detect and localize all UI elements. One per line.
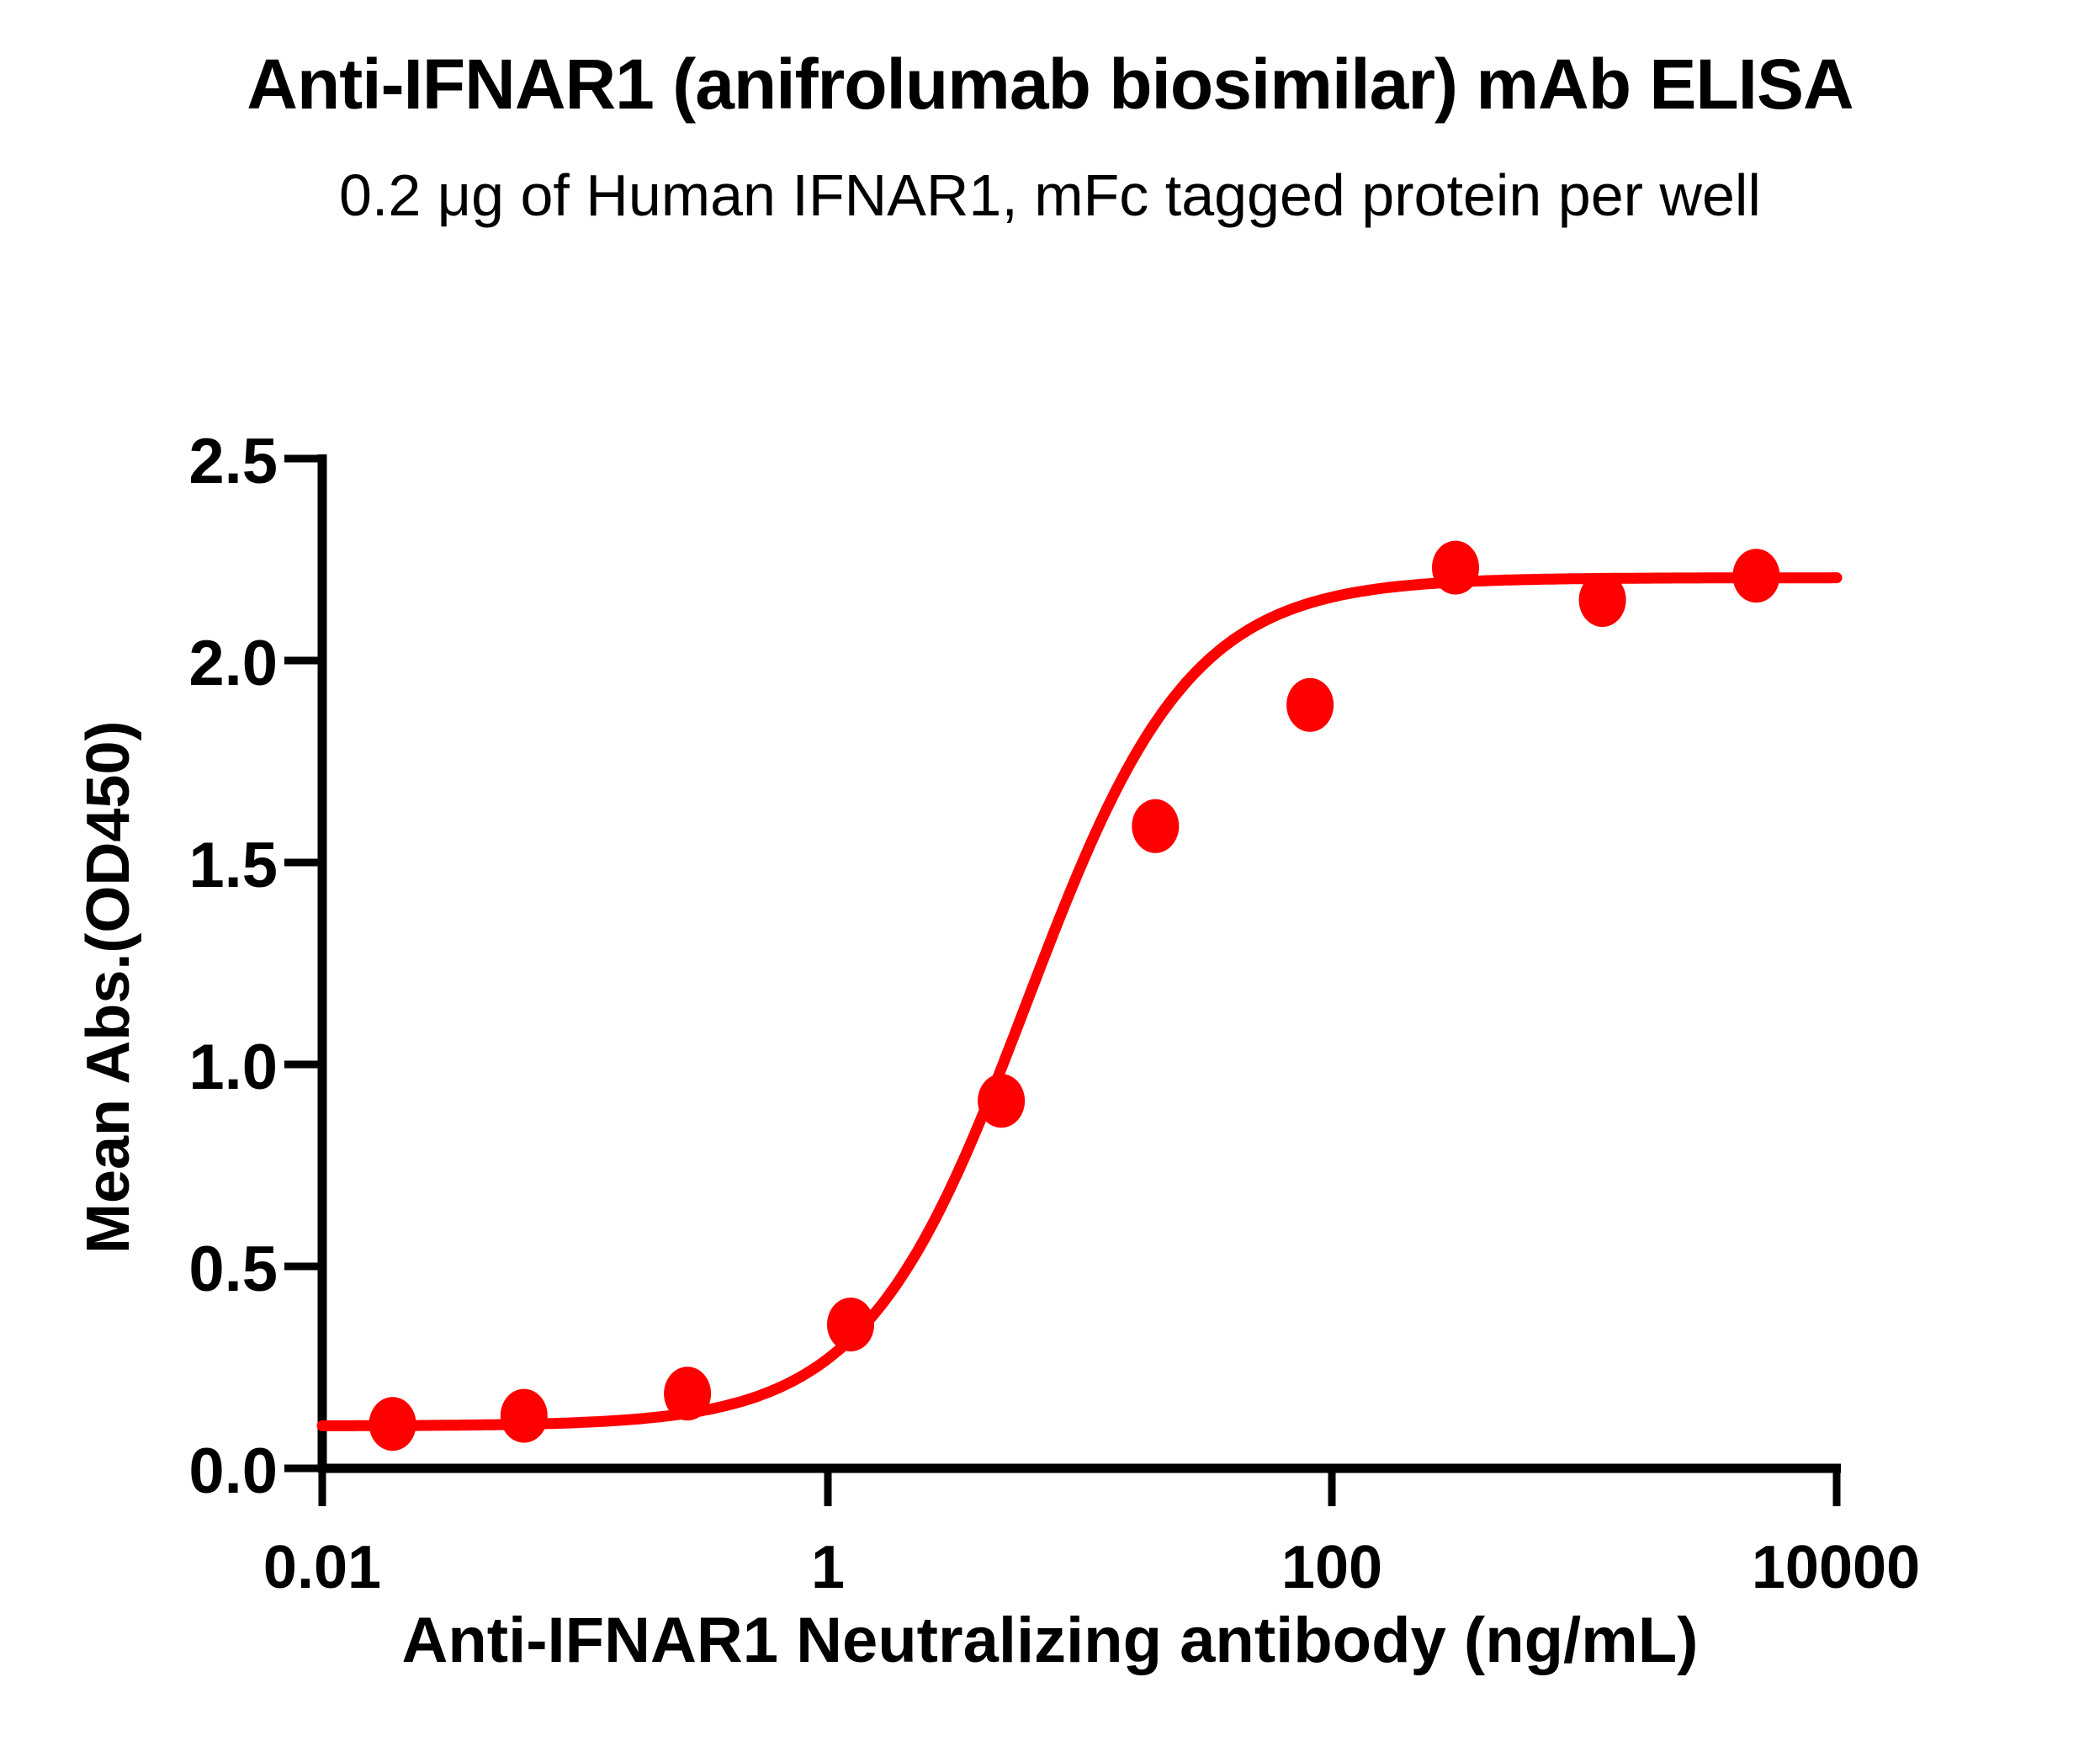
- data-point: [827, 1298, 874, 1351]
- data-point: [1579, 573, 1626, 627]
- fit-curve: [322, 578, 1837, 1426]
- elisa-chart-figure: Anti-IFNAR1 (anifrolumab biosimilar) mAb…: [0, 0, 2100, 1762]
- x-axis-ticks: [322, 1468, 1837, 1506]
- data-point: [664, 1367, 711, 1420]
- data-point: [1286, 678, 1334, 732]
- data-point: [369, 1397, 416, 1451]
- data-point-group: [369, 541, 1780, 1452]
- data-point: [1432, 541, 1479, 595]
- data-point: [978, 1074, 1025, 1128]
- data-point: [1132, 799, 1179, 853]
- data-point: [1732, 549, 1779, 602]
- y-axis-ticks: [284, 459, 322, 1468]
- data-point: [501, 1389, 548, 1443]
- plot-canvas: [0, 0, 2100, 1762]
